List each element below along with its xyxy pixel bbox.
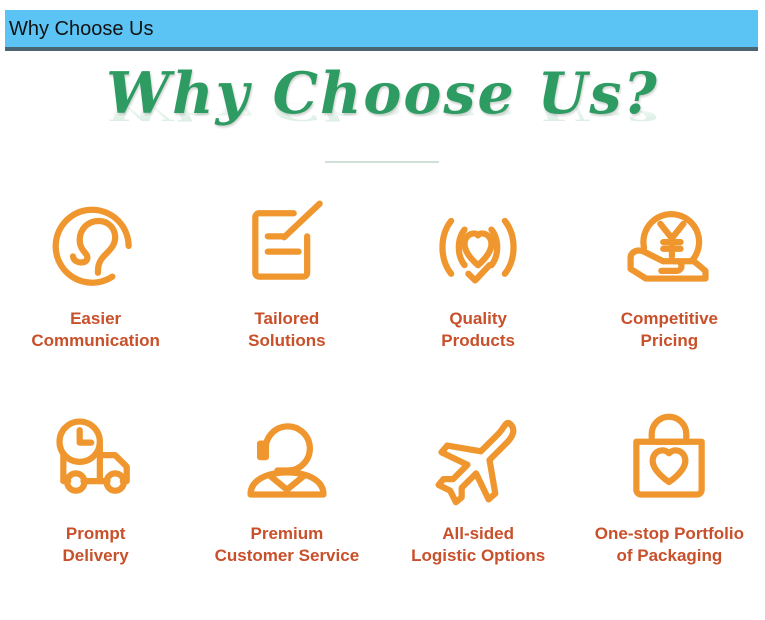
feature-label: Premium Customer Service [211,523,364,568]
feature-item-premium-customer-service[interactable]: Premium Customer Service [191,405,382,620]
ear-listening-icon [42,190,150,298]
feature-label: All-sided Logistic Options [407,523,549,568]
page-content: Why Choose Us? Why Choose Us? Easier Com… [0,55,765,599]
feature-grid: Easier Communication Tailored Solutions [0,190,765,620]
hero-divider [325,161,439,163]
feature-label: Competitive Pricing [617,308,722,353]
feature-label: One-stop Portfolio of Packaging [591,523,748,568]
window-title-bar: Why Choose Us [5,10,758,51]
document-pen-icon [233,190,341,298]
window-title-label: Why Choose Us [5,19,154,39]
feature-item-quality-products[interactable]: Quality Products [383,190,574,405]
feature-label: Tailored Solutions [244,308,329,353]
page-title: Why Choose Us? [0,65,765,122]
hero-section: Why Choose Us? Why Choose Us? [0,55,765,167]
heart-check-signal-icon [424,190,532,298]
truck-clock-icon [42,405,150,513]
feature-item-competitive-pricing[interactable]: Competitive Pricing [574,190,765,405]
shopping-bag-heart-icon [615,405,723,513]
feature-label: Quality Products [437,308,519,353]
feature-item-prompt-delivery[interactable]: Prompt Delivery [0,405,191,620]
feature-label: Easier Communication [27,308,163,353]
feature-label: Prompt Delivery [59,523,133,568]
feature-item-tailored-solutions[interactable]: Tailored Solutions [191,190,382,405]
headset-agent-icon [233,405,341,513]
feature-item-one-stop-portfolio-of-packaging[interactable]: One-stop Portfolio of Packaging [574,405,765,620]
feature-item-easier-communication[interactable]: Easier Communication [0,190,191,405]
hand-coin-yen-icon [615,190,723,298]
airplane-icon [424,405,532,513]
feature-item-all-sided-logistic-options[interactable]: All-sided Logistic Options [383,405,574,620]
